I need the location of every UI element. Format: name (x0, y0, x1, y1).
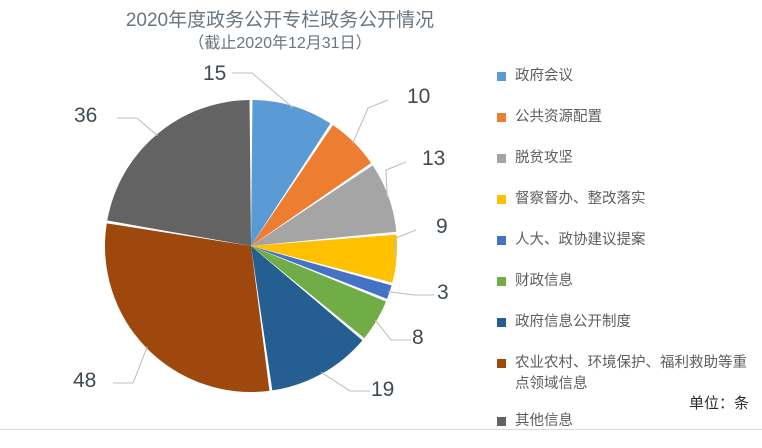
leader-line (117, 118, 158, 136)
leader-line (353, 100, 388, 143)
legend-item[interactable]: 政府会议 (497, 66, 759, 87)
legend-item-label: 公共资源配置 (515, 107, 602, 128)
legend-swatch-icon (497, 154, 506, 163)
legend-swatch-icon (497, 359, 506, 368)
legend-swatch-icon (497, 417, 506, 426)
legend-item[interactable]: 农业农村、环境保护、福利救助等重点领域信息 (497, 353, 759, 395)
legend-item-label: 督察督办、整改落实 (515, 189, 646, 210)
legend-swatch-icon (497, 113, 506, 122)
legend-item[interactable]: 财政信息 (497, 271, 759, 292)
legend-item[interactable]: 脱贫攻坚 (497, 148, 759, 169)
data-label: 48 (73, 370, 96, 391)
chart-legend: 政府会议公共资源配置脱贫攻坚督察督办、整改落实人大、政协建议提案财政信息政府信息… (497, 66, 759, 448)
legend-swatch-icon (497, 72, 506, 81)
legend-item[interactable]: 督察督办、整改落实 (497, 189, 759, 210)
legend-item-label: 财政信息 (515, 271, 573, 292)
data-label: 3 (437, 282, 449, 303)
legend-swatch-icon (497, 318, 506, 327)
legend-item[interactable]: 其他信息 (497, 411, 759, 432)
legend-item-label: 农业农村、环境保护、福利救助等重点领域信息 (515, 353, 759, 395)
legend-item[interactable]: 人大、政协建议提案 (497, 230, 759, 251)
data-label: 15 (203, 63, 226, 84)
unit-label: 单位：条 (497, 392, 749, 413)
data-label: 36 (74, 105, 97, 126)
legend-item[interactable]: 政府信息公开制度 (497, 312, 759, 333)
data-label: 19 (371, 379, 394, 400)
leader-line (388, 292, 434, 295)
legend-item[interactable]: 公共资源配置 (497, 107, 759, 128)
legend-item-label: 其他信息 (515, 411, 573, 432)
leader-line (386, 162, 406, 198)
legend-swatch-icon (497, 195, 506, 204)
legend-item-label: 人大、政协建议提案 (515, 230, 646, 251)
data-label: 9 (436, 216, 448, 237)
leader-line (395, 230, 416, 259)
pie-slice[interactable] (105, 223, 269, 392)
data-label: 10 (407, 86, 430, 107)
pie-svg (0, 0, 500, 429)
legend-swatch-icon (497, 236, 506, 245)
pie-plot-area: 151013938194836 (0, 0, 500, 429)
pie-slice[interactable] (107, 100, 251, 246)
leader-line (375, 320, 411, 340)
data-label: 13 (422, 148, 445, 169)
legend-item-label: 政府会议 (515, 66, 573, 87)
pie-slice-group (105, 100, 397, 392)
pie-chart-figure: 2020年度政务公开专栏政务公开情况 （截止2020年12月31日） 15101… (0, 0, 762, 429)
leader-line (113, 347, 147, 383)
legend-swatch-icon (497, 277, 506, 286)
legend-item-label: 脱贫攻坚 (515, 148, 573, 169)
legend-item-label: 政府信息公开制度 (515, 312, 631, 333)
leader-line (321, 372, 370, 391)
data-label: 8 (412, 327, 424, 348)
